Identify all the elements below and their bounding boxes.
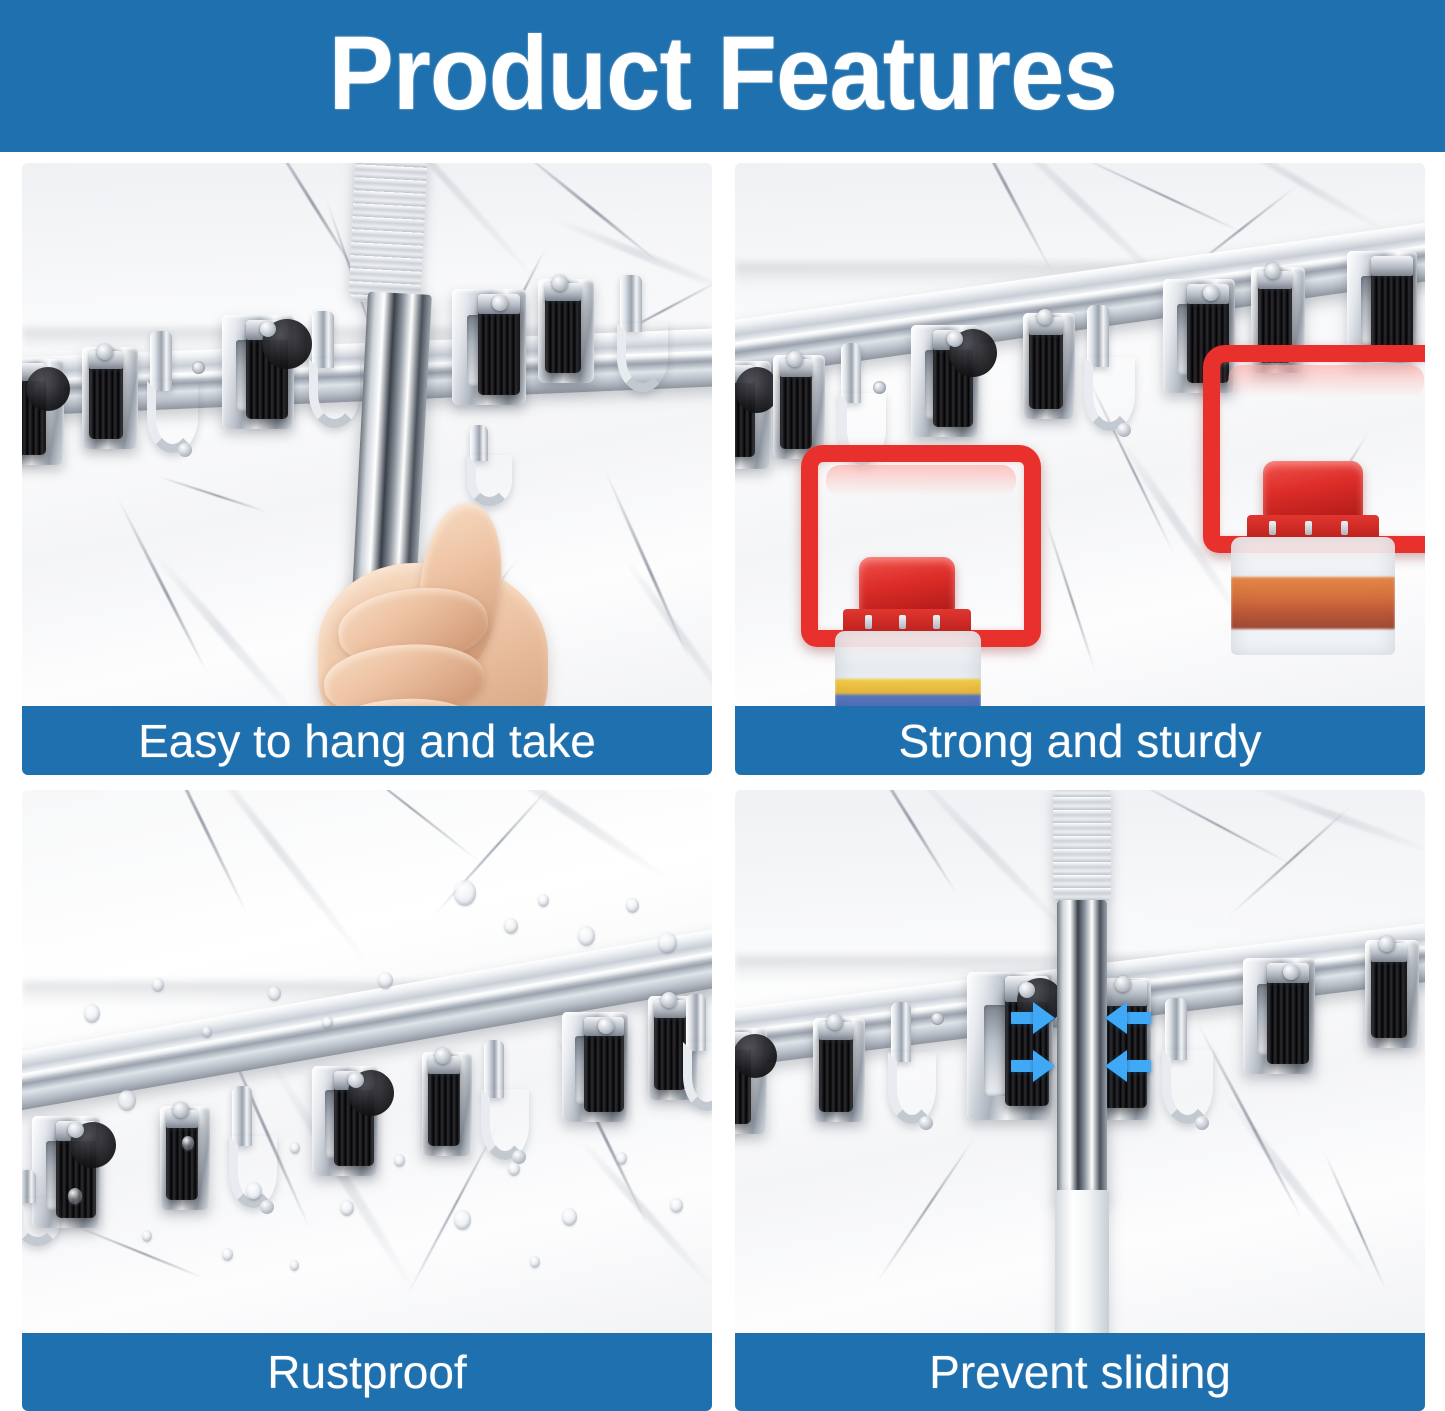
rail-hook: [1165, 998, 1187, 1098]
holder-clip: [452, 289, 526, 405]
rail-hook: [841, 343, 861, 439]
rail-hook: [232, 1086, 252, 1182]
caption-bar: Prevent sliding: [735, 1333, 1425, 1411]
rail-hook: [686, 994, 706, 1086]
photo-prevent-sliding: [735, 790, 1425, 1333]
caption-bar: Strong and sturdy: [735, 706, 1425, 775]
mop-pole-grip: [1053, 790, 1111, 906]
caption-bar: Easy to hang and take: [22, 706, 712, 775]
holder-clip: [1243, 958, 1315, 1074]
holder-clip: [735, 1028, 767, 1134]
rail-hook: [620, 275, 642, 367]
holder-clip: [773, 355, 825, 459]
rail-hook-small: [22, 1170, 36, 1224]
holder-clip-clamping: [967, 972, 1053, 1120]
rail-hook-small: [470, 425, 488, 483]
holder-clip: [538, 279, 594, 383]
rail-screw: [192, 361, 205, 374]
feature-grid: Easy to hang and take: [22, 163, 1425, 1411]
water-jug: [1203, 345, 1415, 617]
rail-hook: [312, 311, 334, 403]
caption-text: Strong and sturdy: [898, 718, 1261, 764]
holder-clip: [82, 347, 138, 449]
caption-text: Easy to hang and take: [138, 718, 596, 764]
mop-pole-shaft: [1055, 1190, 1109, 1333]
mop-pole-grip: [348, 163, 428, 305]
holder-clip: [1365, 940, 1419, 1048]
holder-clip: [312, 1066, 378, 1176]
photo-strong-and-sturdy: [735, 163, 1425, 706]
photo-rustproof: [22, 790, 712, 1333]
holder-clip: [422, 1052, 472, 1156]
holder-clip: [911, 325, 979, 437]
holder-clip: [813, 1018, 865, 1122]
rail-hook: [150, 331, 172, 427]
feature-panel-easy-to-hang[interactable]: Easy to hang and take: [22, 163, 712, 775]
rail-screw: [931, 1012, 944, 1025]
feature-panel-rustproof[interactable]: Rustproof: [22, 790, 712, 1411]
holder-clip: [735, 361, 771, 469]
rail-hook: [891, 1002, 911, 1098]
holder-clip: [160, 1106, 210, 1210]
mop-pole-chrome: [1057, 900, 1107, 1200]
holder-clip: [562, 1012, 628, 1122]
caption-text: Prevent sliding: [929, 1349, 1231, 1395]
holder-clip: [22, 359, 64, 465]
caption-bar: Rustproof: [22, 1333, 712, 1411]
feature-panel-prevent-sliding[interactable]: Prevent sliding: [735, 790, 1425, 1411]
product-features-infographic: Product Features: [0, 0, 1445, 1411]
rail-hook: [1087, 305, 1109, 405]
water-jug: [801, 445, 1007, 706]
feature-panel-strong-and-sturdy[interactable]: Strong and sturdy: [735, 163, 1425, 775]
hand: [308, 493, 588, 706]
photo-easy-to-hang: [22, 163, 712, 706]
caption-text: Rustproof: [267, 1349, 466, 1395]
holder-clip: [1023, 313, 1075, 419]
page-title: Product Features: [328, 21, 1116, 132]
rail-hook: [484, 1040, 504, 1134]
header-banner: Product Features: [0, 0, 1445, 152]
holder-clip: [222, 315, 294, 429]
